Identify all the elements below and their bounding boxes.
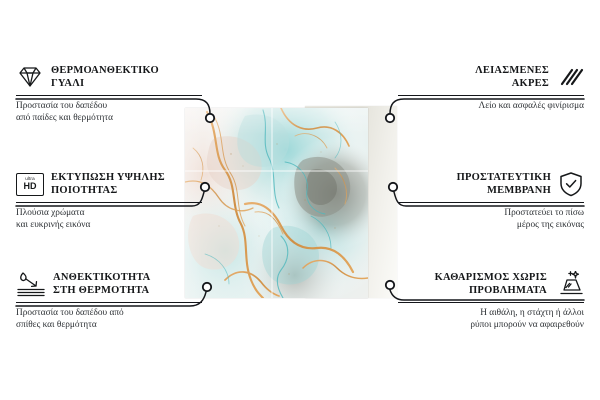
heat-resistance-icon xyxy=(16,271,46,297)
feature-easy-cleaning: ΚΑΘΑΡΙΣΜΟΣ ΧΩΡΙΣ ΠΡΟΒΛΗΜΑΤΑ Η αιθάλη, η … xyxy=(398,271,584,331)
feature-title: ΛΕΙΑΣΜΕΝΕΣ ΑΚΡΕΣ xyxy=(475,64,549,90)
feature-heat-resistant-glass: ΘΕΡΜΟΑΝΘΕΚΤΙΚΟ ΓΥΑΛΙ Προστασία του δαπέδ… xyxy=(16,64,202,124)
feature-description: Προστασία του δαπέδου από σπίθες και θερ… xyxy=(16,308,202,331)
feature-divider xyxy=(16,95,202,96)
feature-header: ΛΕΙΑΣΜΕΝΕΣ ΑΚΡΕΣ xyxy=(398,64,584,90)
feature-divider xyxy=(398,202,584,203)
feature-heat-durability: ΑΝΘΕΚΤΙΚΟΤΗΤΑ ΣΤΗ ΘΕΡΜΟΤΗΤΑ Προστασία το… xyxy=(16,271,202,331)
feature-high-quality-print: ultra HD ΕΚΤΥΠΩΣΗ ΥΨΗΛΗΣ ΠΟΙΟΤΗΤΑΣ Πλούσ… xyxy=(16,171,202,231)
feature-description: Πλούσια χρώματα και ευκρινής εικόνα xyxy=(16,208,202,231)
feature-description: Λείο και ασφαλές φινίρισμα xyxy=(398,101,584,113)
feature-protective-membrane: ΠΡΟΣΤΑΤΕΥΤΙΚΗ ΜΕΜΒΡΑΝΗ Προστατεύει το πί… xyxy=(398,171,584,231)
feature-polished-edges: ΛΕΙΑΣΜΕΝΕΣ ΑΚΡΕΣ Λείο και ασφαλές φινίρι… xyxy=(398,64,584,113)
feature-divider xyxy=(16,302,202,303)
glass-panel xyxy=(185,108,368,298)
feature-header: ΠΡΟΣΤΑΤΕΥΤΙΚΗ ΜΕΜΒΡΑΝΗ xyxy=(398,171,584,197)
polished-edges-icon xyxy=(556,65,584,89)
feature-title: ΑΝΘΕΚΤΙΚΟΤΗΤΑ ΣΤΗ ΘΕΡΜΟΤΗΤΑ xyxy=(53,271,150,297)
infographic-canvas: ΘΕΡΜΟΑΝΘΕΚΤΙΚΟ ΓΥΑΛΙ Προστασία του δαπέδ… xyxy=(0,0,600,400)
feature-description: Προστατεύει το πίσω μέρος της εικόνας xyxy=(398,208,584,231)
feature-title: ΕΚΤΥΠΩΣΗ ΥΨΗΛΗΣ ΠΟΙΟΤΗΤΑΣ xyxy=(51,171,165,197)
feature-title: ΘΕΡΜΟΑΝΘΕΚΤΙΚΟ ΓΥΑΛΙ xyxy=(51,64,159,90)
marble-artwork xyxy=(185,108,368,298)
feature-divider xyxy=(16,202,202,203)
easy-clean-icon xyxy=(554,271,584,297)
window-reflection-horizontal xyxy=(185,170,368,172)
feature-title: ΚΑΘΑΡΙΣΜΟΣ ΧΩΡΙΣ ΠΡΟΒΛΗΜΑΤΑ xyxy=(435,271,547,297)
ultra-hd-icon: ultra HD xyxy=(16,173,44,196)
shield-check-icon xyxy=(558,171,584,197)
feature-divider xyxy=(398,302,584,303)
feature-description: Προστασία του δαπέδου από παίδες και θερ… xyxy=(16,101,202,124)
diamond-icon xyxy=(16,65,44,89)
feature-header: ultra HD ΕΚΤΥΠΩΣΗ ΥΨΗΛΗΣ ΠΟΙΟΤΗΤΑΣ xyxy=(16,171,202,197)
feature-divider xyxy=(398,95,584,96)
window-reflection-vertical xyxy=(271,108,273,298)
feature-header: ΘΕΡΜΟΑΝΘΕΚΤΙΚΟ ΓΥΑΛΙ xyxy=(16,64,202,90)
feature-title: ΠΡΟΣΤΑΤΕΥΤΙΚΗ ΜΕΜΒΡΑΝΗ xyxy=(457,171,551,197)
product-image xyxy=(185,108,395,298)
feature-description: Η αιθάλη, η στάχτη ή άλλοι ρύποι μπορούν… xyxy=(398,308,584,331)
feature-header: ΑΝΘΕΚΤΙΚΟΤΗΤΑ ΣΤΗ ΘΕΡΜΟΤΗΤΑ xyxy=(16,271,202,297)
feature-header: ΚΑΘΑΡΙΣΜΟΣ ΧΩΡΙΣ ΠΡΟΒΛΗΜΑΤΑ xyxy=(398,271,584,297)
